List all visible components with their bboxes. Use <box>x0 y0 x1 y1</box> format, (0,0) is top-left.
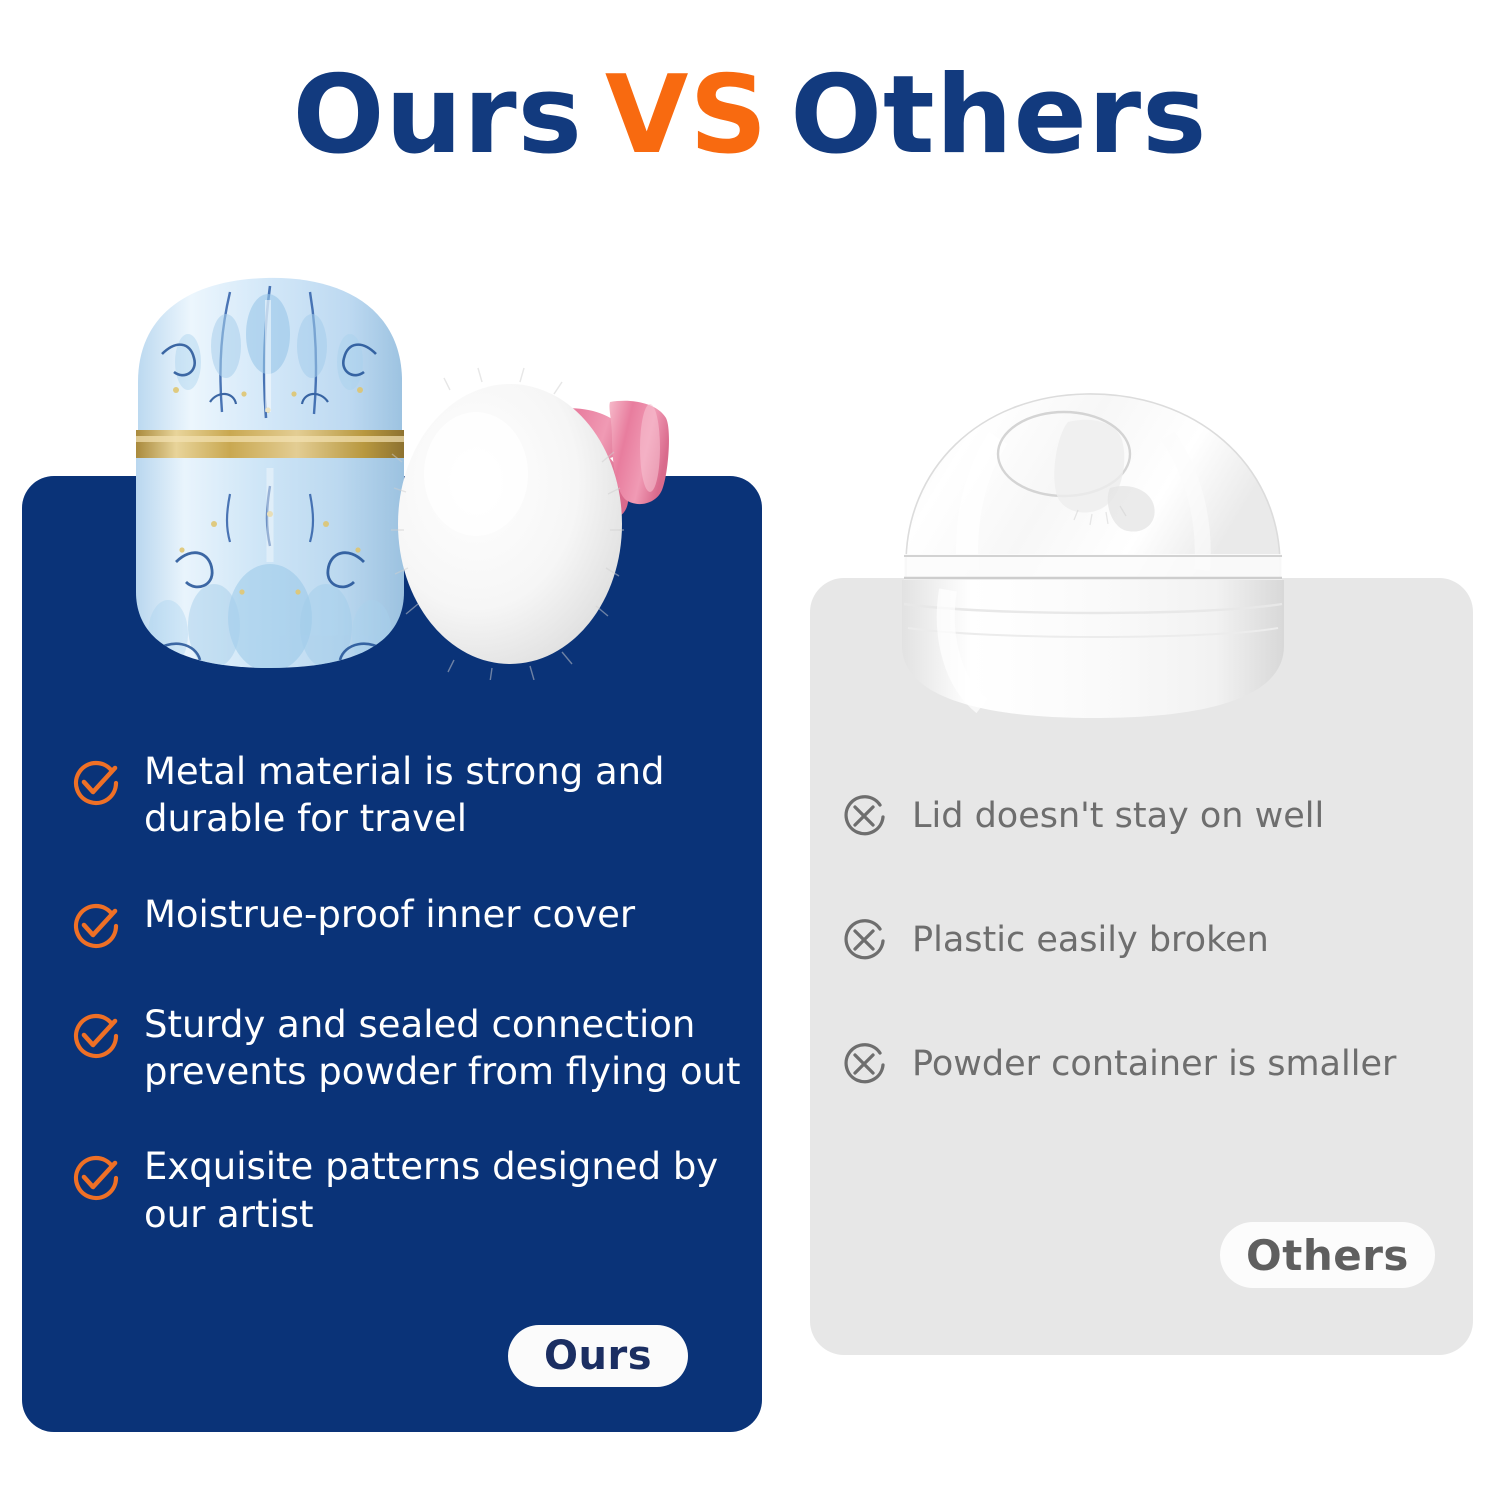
check-circle-icon <box>68 1007 124 1063</box>
feature-text: Sturdy and sealed connection prevents po… <box>144 1001 744 1096</box>
feature-text: Moistrue-proof inner cover <box>144 891 635 938</box>
feature-text: Lid doesn't stay on well <box>912 795 1324 837</box>
check-circle-icon <box>68 1149 124 1205</box>
list-item: Sturdy and sealed connection prevents po… <box>68 1001 768 1096</box>
others-product-image <box>878 378 1323 730</box>
title-word-others: Others <box>790 62 1207 170</box>
title-word-vs: VS <box>583 62 790 170</box>
status-badge-others: Others <box>1220 1222 1435 1288</box>
list-item: Plastic easily broken <box>838 914 1478 966</box>
others-feature-list: Lid doesn't stay on well Plastic easily … <box>838 790 1478 1090</box>
badge-label: Others <box>1246 1231 1409 1280</box>
cross-circle-icon <box>838 914 890 966</box>
feature-text: Plastic easily broken <box>912 919 1269 961</box>
feature-text: Powder container is smaller <box>912 1043 1396 1085</box>
list-item: Lid doesn't stay on well <box>838 790 1478 842</box>
status-badge-ours: Ours <box>508 1325 688 1387</box>
badge-label: Ours <box>544 1333 652 1379</box>
feature-text: Metal material is strong and durable for… <box>144 748 744 843</box>
cross-circle-icon <box>838 1038 890 1090</box>
list-item: Metal material is strong and durable for… <box>68 748 768 843</box>
feature-text: Exquisite patterns designed by our artis… <box>144 1143 744 1238</box>
page-title: OursVSOthers <box>0 62 1500 170</box>
title-word-ours: Ours <box>293 62 583 170</box>
ours-product-image <box>110 262 720 680</box>
check-circle-icon <box>68 897 124 953</box>
cross-circle-icon <box>838 790 890 842</box>
list-item: Exquisite patterns designed by our artis… <box>68 1143 768 1238</box>
ours-feature-list: Metal material is strong and durable for… <box>68 748 768 1238</box>
list-item: Powder container is smaller <box>838 1038 1478 1090</box>
list-item: Moistrue-proof inner cover <box>68 891 768 953</box>
check-circle-icon <box>68 754 124 810</box>
